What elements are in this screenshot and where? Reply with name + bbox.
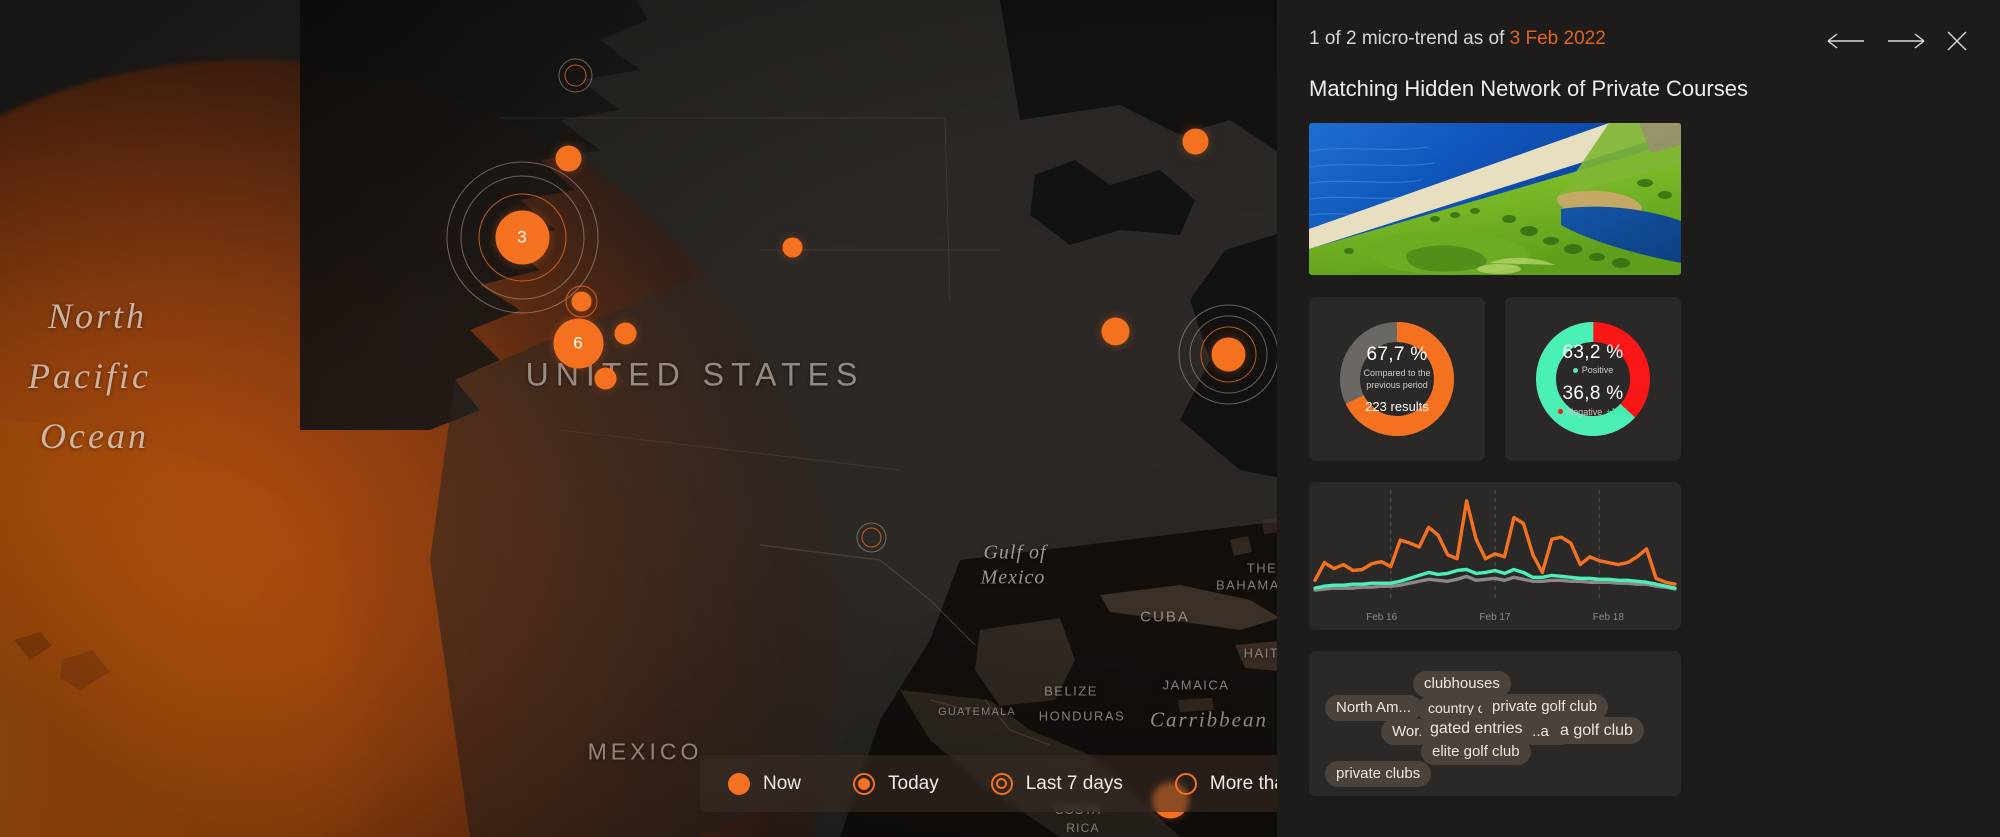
arrow-left-icon[interactable] <box>1826 31 1866 51</box>
sentiment-badge: +19% <box>1606 407 1628 417</box>
marker-northwest[interactable] <box>568 158 569 159</box>
volume-donut-card: 67,7 % Compared to the previous period 2… <box>1309 297 1485 461</box>
keyword-tag[interactable]: private clubs <box>1325 761 1431 787</box>
panel-nav-controls[interactable] <box>1826 30 1968 52</box>
positive-percent: 63,2 % <box>1563 342 1624 364</box>
positive-swatch <box>1573 368 1578 373</box>
double-ring-icon <box>991 773 1013 795</box>
map-region-label: CUBA <box>1140 609 1190 626</box>
legend-item-today[interactable]: Today <box>853 773 939 795</box>
dot-in-ring-icon <box>853 773 875 795</box>
marker-dot[interactable] <box>1101 317 1129 345</box>
map-region-label: RICA <box>1066 821 1099 835</box>
keyword-tag[interactable]: clubhouses <box>1413 671 1511 697</box>
map-region-label: BELIZE <box>1044 684 1098 699</box>
positive-label: Positive <box>1582 365 1614 375</box>
trend-line-chart: Feb 16Feb 17Feb 18 <box>1309 482 1681 630</box>
legend-item-last-7-days[interactable]: Last 7 days <box>991 773 1123 795</box>
hollow-ring-icon <box>1175 773 1197 795</box>
map-region-label: Carribbean <box>1150 708 1268 733</box>
app-root: NorthPacificOcean UNITED STATESMEXICOGul… <box>0 0 2000 837</box>
trend-counter: 1 of 2 micro-trend as of 3 Feb 2022 <box>1309 26 1606 51</box>
marker-dot[interactable]: 3 <box>495 210 549 264</box>
chart-x-tick: Feb 16 <box>1366 612 1397 623</box>
marker-dot[interactable] <box>571 291 591 311</box>
negative-legend: Negative +19% <box>1558 407 1629 417</box>
keyword-tag[interactable]: elite golf club <box>1421 739 1531 765</box>
marker-ring <box>558 58 592 92</box>
map-region-label: Mexico <box>981 567 1046 590</box>
close-icon[interactable] <box>1946 30 1968 52</box>
sentiment-donut: 63,2 % Positive 36,8 % Negative +19% <box>1531 317 1655 441</box>
ocean-label-word: Ocean <box>40 415 149 457</box>
marker-dot[interactable] <box>1211 337 1245 371</box>
marker-northeast[interactable] <box>1195 141 1196 142</box>
map-region-label: Gulf of <box>983 542 1046 565</box>
legend-item-now[interactable]: Now <box>728 773 801 795</box>
chart-x-axis: Feb 16Feb 17Feb 18 <box>1309 612 1681 623</box>
trend-thumbnail[interactable] <box>1309 123 1681 275</box>
aerial-coastal-golf-course-image <box>1309 123 1681 275</box>
volume-caption-1: Compared to the <box>1363 368 1430 379</box>
volume-caption-2: previous period <box>1363 380 1430 391</box>
marker-dot[interactable] <box>614 322 636 344</box>
trend-counter-text: 1 of 2 micro-trend as of <box>1309 28 1504 49</box>
map-region-label: GUATEMALA <box>938 706 1016 718</box>
marker-mid-west[interactable] <box>581 301 582 302</box>
map-legend[interactable]: NowTodayLast 7 daysMore than 7 days ago <box>700 755 1300 812</box>
marker-dot[interactable] <box>594 367 616 389</box>
marker-dot[interactable] <box>1182 128 1208 154</box>
map-region-label: THE <box>1247 561 1278 576</box>
map-region-label: MEXICO <box>588 739 703 766</box>
marker-east[interactable] <box>1115 331 1116 332</box>
volume-results: 223 results <box>1365 400 1429 415</box>
marker-dot[interactable]: 6 <box>553 318 603 368</box>
panel-header: 1 of 2 micro-trend as of 3 Feb 2022 <box>1309 26 1968 52</box>
negative-label: Negative <box>1567 407 1603 417</box>
chart-x-tick: Feb 18 <box>1593 612 1624 623</box>
marker-mexico-ring[interactable] <box>871 537 872 538</box>
legend-item-label: Now <box>763 773 801 795</box>
marker-south-cal[interactable] <box>605 378 606 379</box>
positive-legend: Positive <box>1573 365 1614 375</box>
negative-swatch <box>1558 409 1563 414</box>
legend-item-label: Today <box>888 773 939 795</box>
marker-atlantic[interactable] <box>1228 354 1229 355</box>
sentiment-donut-card: 63,2 % Positive 36,8 % Negative +19% <box>1505 297 1681 461</box>
volume-percent: 67,7 % <box>1367 344 1428 366</box>
ocean-label-word: Pacific <box>28 355 151 397</box>
marker-dot[interactable] <box>782 237 802 257</box>
volume-donut: 67,7 % Compared to the previous period 2… <box>1335 317 1459 441</box>
map-region-label: JAMAICA <box>1163 678 1230 693</box>
keyword-tag[interactable]: North Am... <box>1325 695 1422 721</box>
ocean-label-word: North <box>48 295 147 337</box>
marker-dot[interactable] <box>555 145 581 171</box>
negative-percent: 36,8 % <box>1563 383 1624 405</box>
keyword-cloud[interactable]: clubhousesNorth Am...private golf clubco… <box>1309 651 1681 796</box>
trend-detail-panel: 1 of 2 micro-trend as of 3 Feb 2022 Matc… <box>1277 0 2000 837</box>
legend-item-label: Last 7 days <box>1026 773 1123 795</box>
keyword-tag[interactable]: gated entries <box>1419 715 1534 742</box>
cluster-west-3[interactable]: 3 <box>522 237 523 238</box>
chart-x-tick: Feb 17 <box>1479 612 1510 623</box>
trend-date: 3 Feb 2022 <box>1510 28 1606 49</box>
arrow-right-icon[interactable] <box>1886 31 1926 51</box>
metrics-row: 67,7 % Compared to the previous period 2… <box>1309 297 1968 461</box>
marker-midwest[interactable] <box>792 247 793 248</box>
trend-headline: Matching Hidden Network of Private Cours… <box>1309 74 1749 103</box>
marker-ring <box>856 522 886 552</box>
keyword-tag[interactable]: a golf club <box>1549 717 1644 744</box>
map-region-label: HONDURAS <box>1039 709 1125 724</box>
filled-dot-icon <box>728 773 750 795</box>
cluster-west-6[interactable]: 6 <box>578 343 579 344</box>
marker-ring-north[interactable] <box>575 75 576 76</box>
marker-southwest[interactable] <box>625 333 626 334</box>
